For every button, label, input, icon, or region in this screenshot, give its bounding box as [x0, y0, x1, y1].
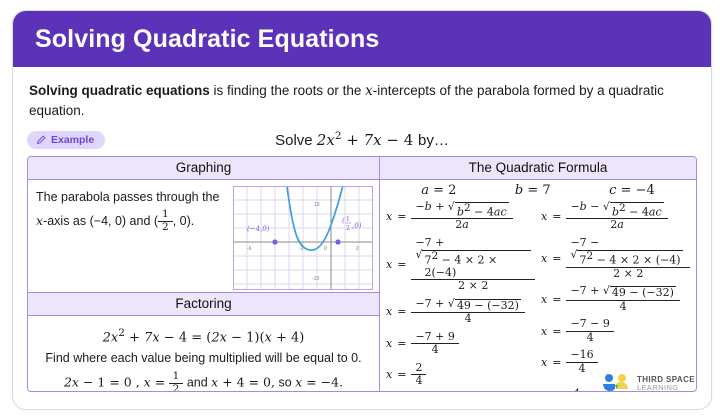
qf-left-step-4: x = −7 + 94 — [386, 330, 535, 356]
graphing-text-line2c: , 0). — [173, 214, 195, 228]
coefficient-a: a = 2 — [421, 183, 456, 198]
svg-text:-10: -10 — [312, 276, 319, 282]
graphing-body: The parabola passes through the x-axis a… — [28, 180, 379, 292]
graphing-text: The parabola passes through the x-axis a… — [34, 186, 227, 290]
card-body: Solving quadratic equations is finding t… — [13, 67, 711, 392]
factoring-equation: 2x2 + 7x − 4 = (2x − 1)(x + 4) — [34, 327, 373, 345]
coefficient-b: b = 7 — [515, 183, 551, 198]
solve-prefix: Solve — [275, 132, 313, 149]
intro-paragraph: Solving quadratic equations is finding t… — [29, 81, 695, 122]
root-point-right — [335, 239, 340, 244]
quadratic-formula-heading: The Quadratic Formula — [380, 157, 696, 180]
parabola-chart: -6 -2 0 2 10 -10 (−4,0) ( 1 2 ,0) — [233, 186, 373, 290]
qf-right-step-2: x = −7 − √72 − 4 × 2 × (−4)2 × 2 — [541, 237, 690, 281]
example-row: Example Solve 2x2 + 7x − 4 by… — [27, 128, 697, 152]
intro-variable-x: x — [365, 83, 373, 99]
logo-text: THIRD SPACE LEARNING — [637, 375, 695, 393]
formula-columns: x = −b + √b2 − 4ac2a x = −7 + √72 − 4 × … — [380, 199, 696, 392]
parabola-svg: -6 -2 0 2 10 -10 (−4,0) ( 1 2 ,0) — [234, 187, 372, 289]
logo-mark — [601, 373, 631, 395]
formula-column-plus: x = −b + √b2 − 4ac2a x = −7 + √72 − 4 × … — [386, 199, 535, 392]
factoring-fraction: 12 — [169, 371, 184, 392]
svg-text:2: 2 — [356, 246, 359, 252]
qf-left-step-5: x = 24 — [386, 361, 535, 387]
intro-bold-lead: Solving quadratic equations — [29, 83, 210, 98]
graphing-fraction: 12 — [158, 209, 173, 234]
graphing-var-x: x — [36, 213, 43, 228]
coefficients-row: a = 2 b = 7 c = −4 — [380, 180, 696, 199]
qf-right-step-1: x = −b − √b2 − 4ac2a — [541, 201, 690, 232]
qf-left-step-1: x = −b + √b2 − 4ac2a — [386, 201, 535, 232]
qf-left-step-3: x = −7 + √49 − (−32)4 — [386, 298, 535, 326]
third-space-learning-logo: THIRD SPACE LEARNING — [601, 373, 695, 395]
svg-text:(: ( — [342, 217, 345, 225]
svg-text:1: 1 — [346, 216, 350, 223]
card-header: Solving Quadratic Equations — [13, 11, 711, 67]
qf-right-step-3: x = −7 + √49 − (−32)4 — [541, 285, 690, 313]
page-title: Solving Quadratic Equations — [35, 25, 379, 54]
solve-expression: 2x2 + 7x − 4 — [317, 131, 418, 149]
coefficient-c: c = −4 — [609, 183, 655, 198]
graphing-text-line1: The parabola passes through the — [36, 190, 219, 204]
left-column: Graphing The parabola passes through the… — [28, 157, 380, 391]
logo-yellow-dot — [618, 374, 626, 382]
svg-text:-2: -2 — [299, 246, 304, 252]
graphing-text-line2b: -axis as (−4, 0) and ( — [43, 214, 158, 228]
qf-right-step-4: x = −7 − 94 — [541, 318, 690, 344]
intro-text-1: is finding the roots or the — [210, 83, 365, 98]
factoring-body: 2x2 + 7x − 4 = (2x − 1)(x + 4) Find wher… — [28, 316, 379, 392]
root-point-left — [272, 239, 277, 244]
logo-line-2: LEARNING — [637, 384, 695, 393]
solve-prompt: Solve 2x2 + 7x − 4 by… — [27, 130, 697, 149]
factoring-heading: Factoring — [28, 292, 379, 316]
factoring-result: 2x − 1 = 0 , x = 12 and x + 4 = 0, so x … — [34, 371, 373, 392]
logo-blue-dot — [605, 374, 613, 382]
page-root: Solving Quadratic Equations Solving quad… — [0, 0, 724, 420]
svg-text:(−4,0): (−4,0) — [247, 225, 270, 233]
factoring-instruction: Find where each value being multiplied w… — [34, 351, 373, 365]
qf-left-step-2: x = −7 + √72 − 4 × 2 × 2(−4)2 × 2 — [386, 237, 535, 293]
qf-right-step-5: x = −164 — [541, 349, 690, 375]
svg-text:10: 10 — [314, 202, 320, 208]
content-grid: Graphing The parabola passes through the… — [27, 156, 697, 392]
svg-text:-6: -6 — [247, 246, 252, 252]
svg-text:,0): ,0) — [352, 222, 362, 230]
svg-text:0: 0 — [324, 246, 327, 252]
svg-text:2: 2 — [346, 225, 350, 232]
formula-column-minus: x = −b − √b2 − 4ac2a x = −7 − √72 − 4 × … — [535, 199, 690, 392]
solve-suffix: by… — [418, 132, 449, 149]
graphing-heading: Graphing — [28, 157, 379, 180]
lesson-card: Solving Quadratic Equations Solving quad… — [12, 10, 712, 410]
right-column: The Quadratic Formula a = 2 b = 7 c = −4… — [380, 157, 696, 391]
